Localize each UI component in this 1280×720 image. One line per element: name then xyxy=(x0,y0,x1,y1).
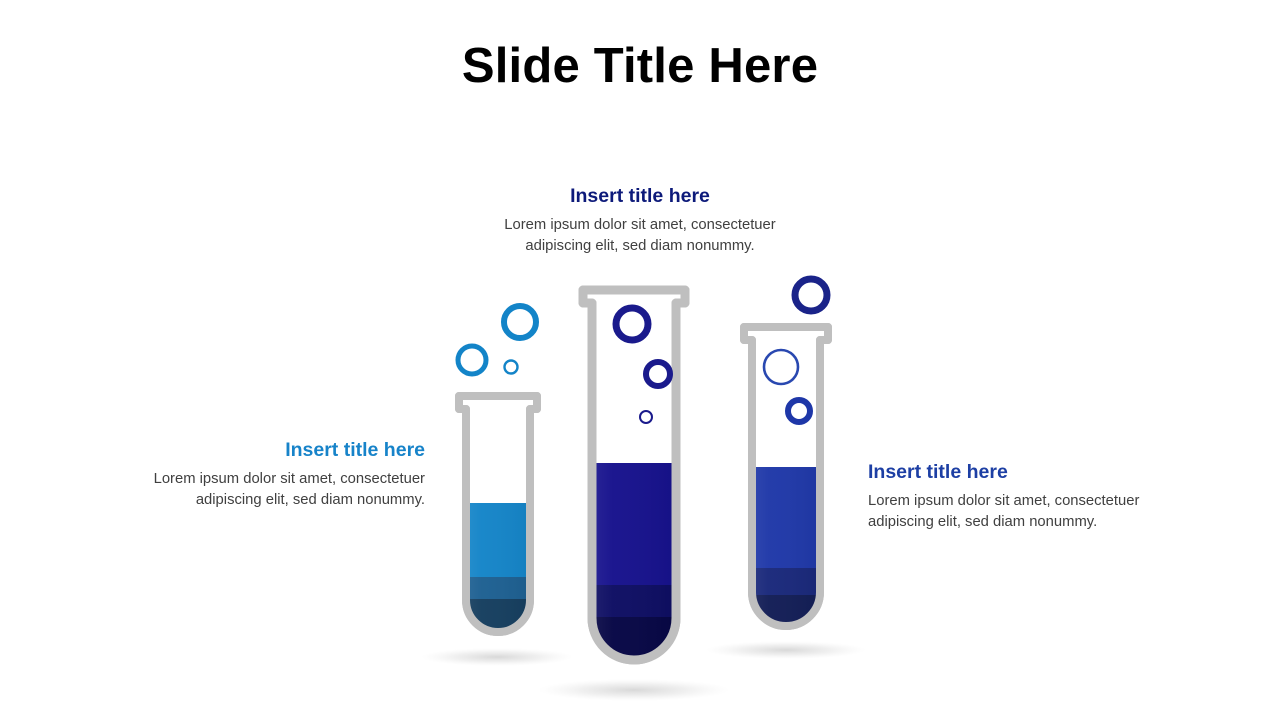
test-tube-graphic-svg xyxy=(0,0,1280,720)
tube-left-glass-outline xyxy=(459,396,537,632)
tube-left-sheen xyxy=(460,503,538,643)
callout-left-title: Insert title here xyxy=(150,438,425,463)
bubble-icon-left-medium xyxy=(458,346,486,374)
bubble-icon-right-large xyxy=(764,350,798,384)
tube-right-band-2 xyxy=(746,568,828,595)
bubble-icon-right-medium xyxy=(788,400,810,422)
callout-center-body: Lorem ipsum dolor sit amet, consectetuer… xyxy=(490,215,790,257)
tube-center-glass-outline xyxy=(583,290,685,660)
bubbles-right-tube xyxy=(764,279,827,422)
tube-left-band-1 xyxy=(460,503,538,577)
test-tube-infographic xyxy=(0,0,1280,720)
test-tube-center[interactable] xyxy=(583,290,685,669)
callout-right: Insert title here Lorem ipsum dolor sit … xyxy=(868,460,1158,533)
bubbles-center-tube xyxy=(616,308,670,423)
tube-center-band-2 xyxy=(586,585,682,617)
bubble-icon-left-small xyxy=(505,361,518,374)
bubble-icon-left-large xyxy=(504,306,536,338)
callout-center: Insert title here Lorem ipsum dolor sit … xyxy=(490,184,790,257)
callout-left: Insert title here Lorem ipsum dolor sit … xyxy=(150,438,425,511)
bubble-icon-center-medium xyxy=(646,362,670,386)
tube-left-liquid xyxy=(460,503,538,643)
shadow-center-tube xyxy=(538,679,730,701)
test-tube-right[interactable] xyxy=(744,327,828,639)
tube-center-band-3 xyxy=(586,617,682,669)
tube-right-band-3 xyxy=(746,595,828,639)
bubbles-left-tube xyxy=(458,306,536,374)
tube-center-glass xyxy=(583,290,685,660)
test-tube-left[interactable] xyxy=(459,396,538,643)
callout-right-title: Insert title here xyxy=(868,460,1158,485)
tube-left-glass xyxy=(459,396,537,632)
tube-right-glass-outline xyxy=(744,327,828,626)
page-title: Slide Title Here xyxy=(0,38,1280,94)
slide-canvas: Slide Title Here xyxy=(0,0,1280,720)
tube-left-band-2 xyxy=(460,577,538,599)
callout-right-body: Lorem ipsum dolor sit amet, consectetuer… xyxy=(868,491,1158,533)
tube-center-liquid xyxy=(586,463,682,669)
tube-center-band-1 xyxy=(586,463,682,585)
tube-right-sheen xyxy=(746,467,828,639)
tube-left-band-3 xyxy=(460,599,538,641)
tube-center-sheen xyxy=(586,463,682,669)
shadow-left-tube xyxy=(421,648,573,666)
shadow-right-tube xyxy=(706,641,866,659)
bubble-icon-center-small xyxy=(640,411,652,423)
bubble-icon-center-large xyxy=(616,308,648,340)
tube-right-liquid xyxy=(746,467,828,639)
tube-right-glass xyxy=(744,327,828,626)
bubble-icon-right-outer xyxy=(795,279,827,311)
callout-left-body: Lorem ipsum dolor sit amet, consectetuer… xyxy=(150,469,425,511)
callout-center-title: Insert title here xyxy=(490,184,790,209)
tube-right-band-1 xyxy=(746,467,828,568)
